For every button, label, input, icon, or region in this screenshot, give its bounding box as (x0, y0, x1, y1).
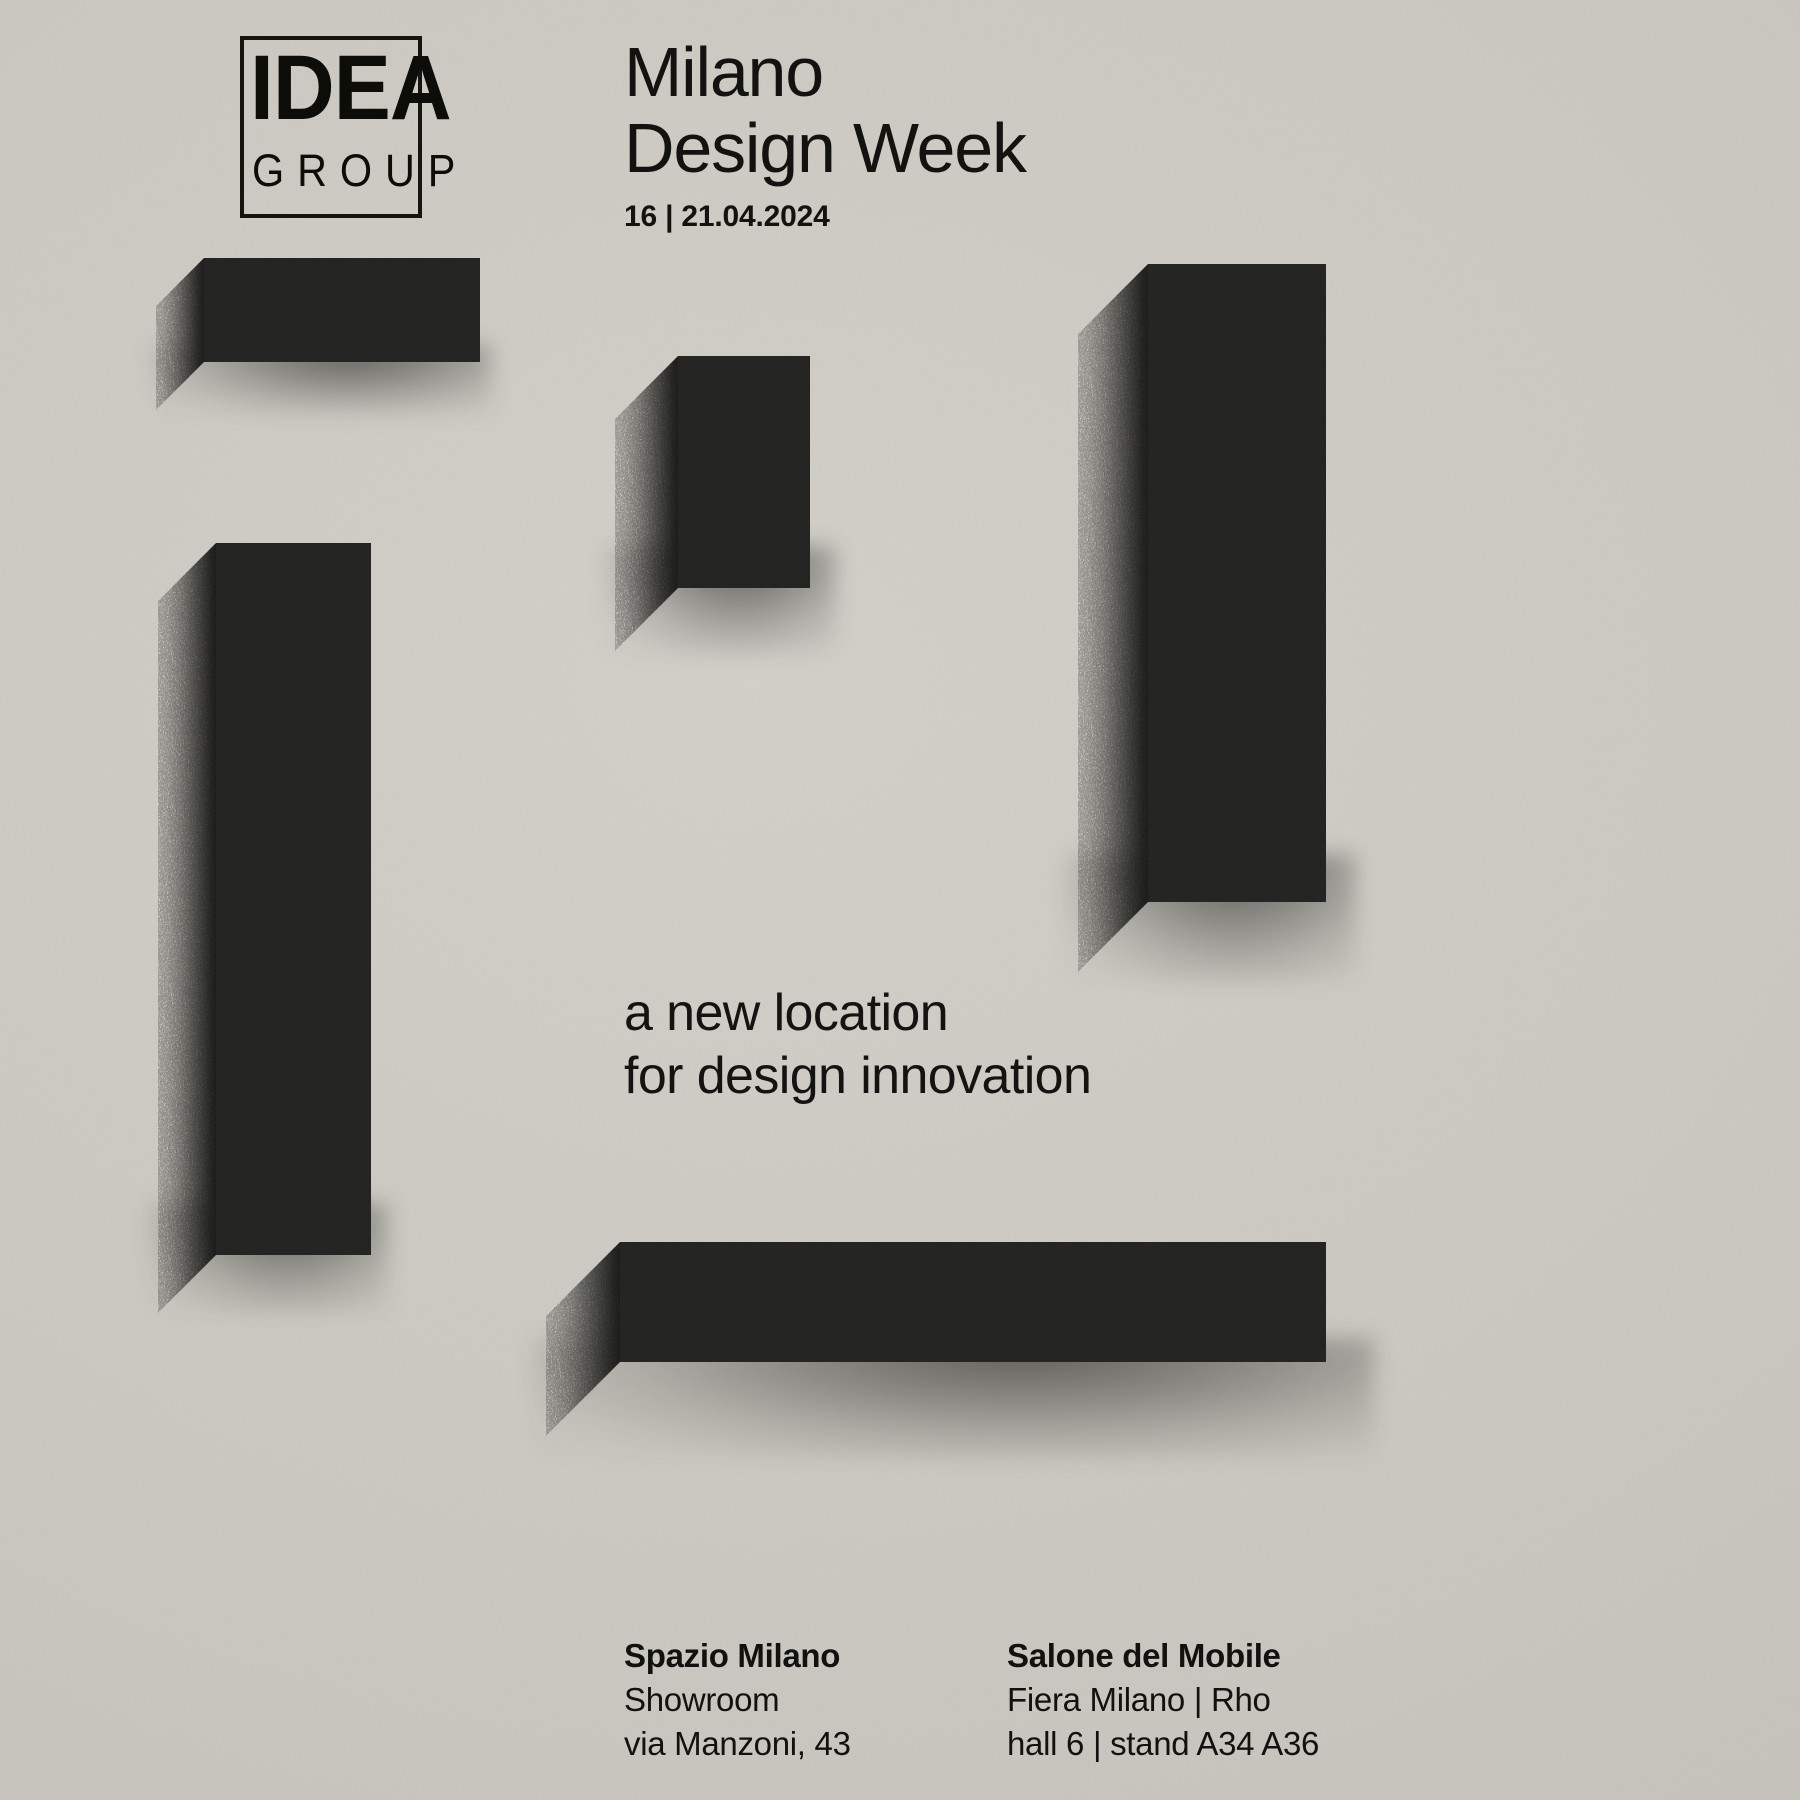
shape-front-face (620, 1242, 1326, 1362)
location-spazio-milano: Spazio Milano Showroom via Manzoni, 43 (624, 1634, 1007, 1766)
logo-wordmark-idea: IDEA (250, 42, 427, 134)
shape-extrusion-face (1078, 264, 1148, 972)
location-line-2: hall 6 | stand A34 A36 (1007, 1722, 1390, 1766)
shape-middle-block (678, 356, 810, 588)
shape-front-face (1148, 264, 1326, 902)
location-name: Spazio Milano (624, 1634, 1007, 1678)
idea-group-logo[interactable]: IDEA GROUP (240, 36, 422, 218)
tagline-line-2: for design innovation (624, 1045, 1091, 1108)
grain-overlay (1078, 264, 1148, 972)
grain-overlay (158, 543, 216, 1313)
tagline-line-1: a new location (624, 982, 1091, 1045)
headline-block: Milano Design Week 16 | 21.04.2024 (624, 34, 1026, 234)
location-line-1: Showroom (624, 1678, 1007, 1722)
shape-extrusion-face (158, 543, 216, 1313)
shape-front-face (216, 543, 371, 1255)
poster-canvas: IDEA GROUP Milano Design Week 16 | 21.04… (0, 0, 1800, 1800)
headline-line-2: Design Week (624, 110, 1026, 186)
location-line-1: Fiera Milano | Rho (1007, 1678, 1390, 1722)
shape-left-column (216, 543, 371, 1255)
shape-front-face (678, 356, 810, 588)
footer-locations: Spazio Milano Showroom via Manzoni, 43 S… (624, 1634, 1390, 1766)
shape-front-face (204, 258, 480, 362)
logo-wordmark-group: GROUP (252, 148, 468, 193)
tagline-block: a new location for design innovation (624, 982, 1091, 1108)
location-salone-del-mobile: Salone del Mobile Fiera Milano | Rho hal… (1007, 1634, 1390, 1766)
shape-bottom-bar (620, 1242, 1326, 1362)
shape-top-left-bar (204, 258, 480, 362)
location-name: Salone del Mobile (1007, 1634, 1390, 1678)
headline-line-1: Milano (624, 34, 1026, 110)
shape-right-column (1148, 264, 1326, 902)
location-line-2: via Manzoni, 43 (624, 1722, 1007, 1766)
event-dates: 16 | 21.04.2024 (624, 200, 1026, 234)
